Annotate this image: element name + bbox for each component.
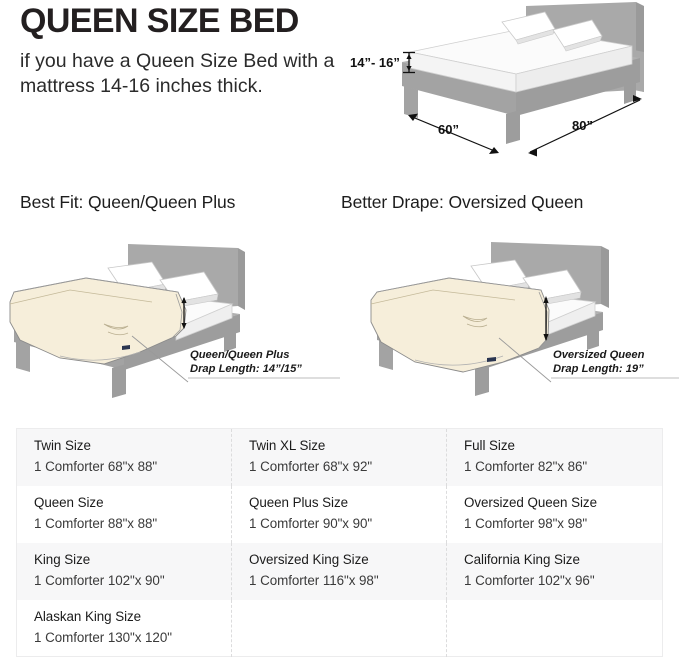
hero-height-label: 14”- 16” (350, 55, 400, 70)
cell-subtitle: 1 Comforter 68"x 88" (34, 458, 231, 476)
right-annotation-line1: Oversized Queen (553, 349, 645, 361)
cell-title: Queen Plus Size (249, 495, 446, 512)
table-row: Twin Size 1 Comforter 68"x 88" Twin XL S… (17, 429, 662, 486)
cell-title: Twin Size (34, 438, 231, 455)
table-cell: Queen Size 1 Comforter 88"x 88" (17, 486, 232, 543)
cell-title: California King Size (464, 552, 662, 569)
cell-subtitle: 1 Comforter 88"x 88" (34, 515, 231, 533)
page-subtitle: if you have a Queen Size Bed with a matt… (20, 49, 340, 100)
cell-subtitle: 1 Comforter 98"x 98" (464, 515, 662, 533)
table-row: Queen Size 1 Comforter 88"x 88" Queen Pl… (17, 486, 662, 543)
section-headings: Best Fit: Queen/Queen Plus Better Drape:… (0, 192, 679, 226)
cell-subtitle: 1 Comforter 130"x 120" (34, 629, 231, 647)
cell-subtitle: 1 Comforter 68"x 92" (249, 458, 446, 476)
cell-title: Full Size (464, 438, 662, 455)
cell-title: Alaskan King Size (34, 609, 231, 626)
cell-subtitle: 1 Comforter 82"x 86" (464, 458, 662, 476)
table-row: King Size 1 Comforter 102"x 90" Oversize… (17, 543, 662, 600)
cell-title: Twin XL Size (249, 438, 446, 455)
table-row: Alaskan King Size 1 Comforter 130"x 120" (17, 600, 662, 657)
hero-length-label: 80” (572, 118, 593, 133)
cell-title: Oversized King Size (249, 552, 446, 569)
table-cell: Alaskan King Size 1 Comforter 130"x 120" (17, 600, 232, 657)
table-cell: Oversized Queen Size 1 Comforter 98"x 98… (447, 486, 662, 543)
table-cell: Twin XL Size 1 Comforter 68"x 92" (232, 429, 447, 486)
right-annotation-line2: Drap Length: 19” (553, 363, 644, 375)
left-annotation-line1: Queen/Queen Plus (190, 349, 289, 361)
cell-title: Oversized Queen Size (464, 495, 662, 512)
hero-width-label: 60” (438, 122, 459, 137)
cell-subtitle: 1 Comforter 102"x 96" (464, 572, 662, 590)
table-cell: California King Size 1 Comforter 102"x 9… (447, 543, 662, 600)
hero-section: QUEEN SIZE BED if you have a Queen Size … (0, 0, 679, 180)
left-annotation-line2: Drap Length: 14”/15” (190, 363, 302, 375)
table-cell-empty (447, 600, 662, 657)
heading-best-fit: Best Fit: Queen/Queen Plus (20, 192, 235, 213)
cell-subtitle: 1 Comforter 116"x 98" (249, 572, 446, 590)
size-table: Twin Size 1 Comforter 68"x 88" Twin XL S… (16, 428, 663, 657)
hero-bed-diagram: 14”- 16” 60” 80” (340, 0, 679, 180)
illustration-best-fit: Queen/Queen Plus Drap Length: 14”/15” (0, 236, 340, 416)
cell-title: King Size (34, 552, 231, 569)
cell-title: Queen Size (34, 495, 231, 512)
size-guide-page: QUEEN SIZE BED if you have a Queen Size … (0, 0, 679, 665)
heading-better-drape: Better Drape: Oversized Queen (341, 192, 583, 213)
table-cell: Twin Size 1 Comforter 68"x 88" (17, 429, 232, 486)
table-cell: King Size 1 Comforter 102"x 90" (17, 543, 232, 600)
hero-text-block: QUEEN SIZE BED if you have a Queen Size … (20, 4, 340, 100)
cell-subtitle: 1 Comforter 102"x 90" (34, 572, 231, 590)
table-cell: Queen Plus Size 1 Comforter 90"x 90" (232, 486, 447, 543)
illustration-better-drape: Oversized Queen Drap Length: 19” (339, 236, 679, 416)
table-cell-empty (232, 600, 447, 657)
table-cell: Oversized King Size 1 Comforter 116"x 98… (232, 543, 447, 600)
table-cell: Full Size 1 Comforter 82"x 86" (447, 429, 662, 486)
page-title: QUEEN SIZE BED (20, 4, 340, 40)
cell-subtitle: 1 Comforter 90"x 90" (249, 515, 446, 533)
